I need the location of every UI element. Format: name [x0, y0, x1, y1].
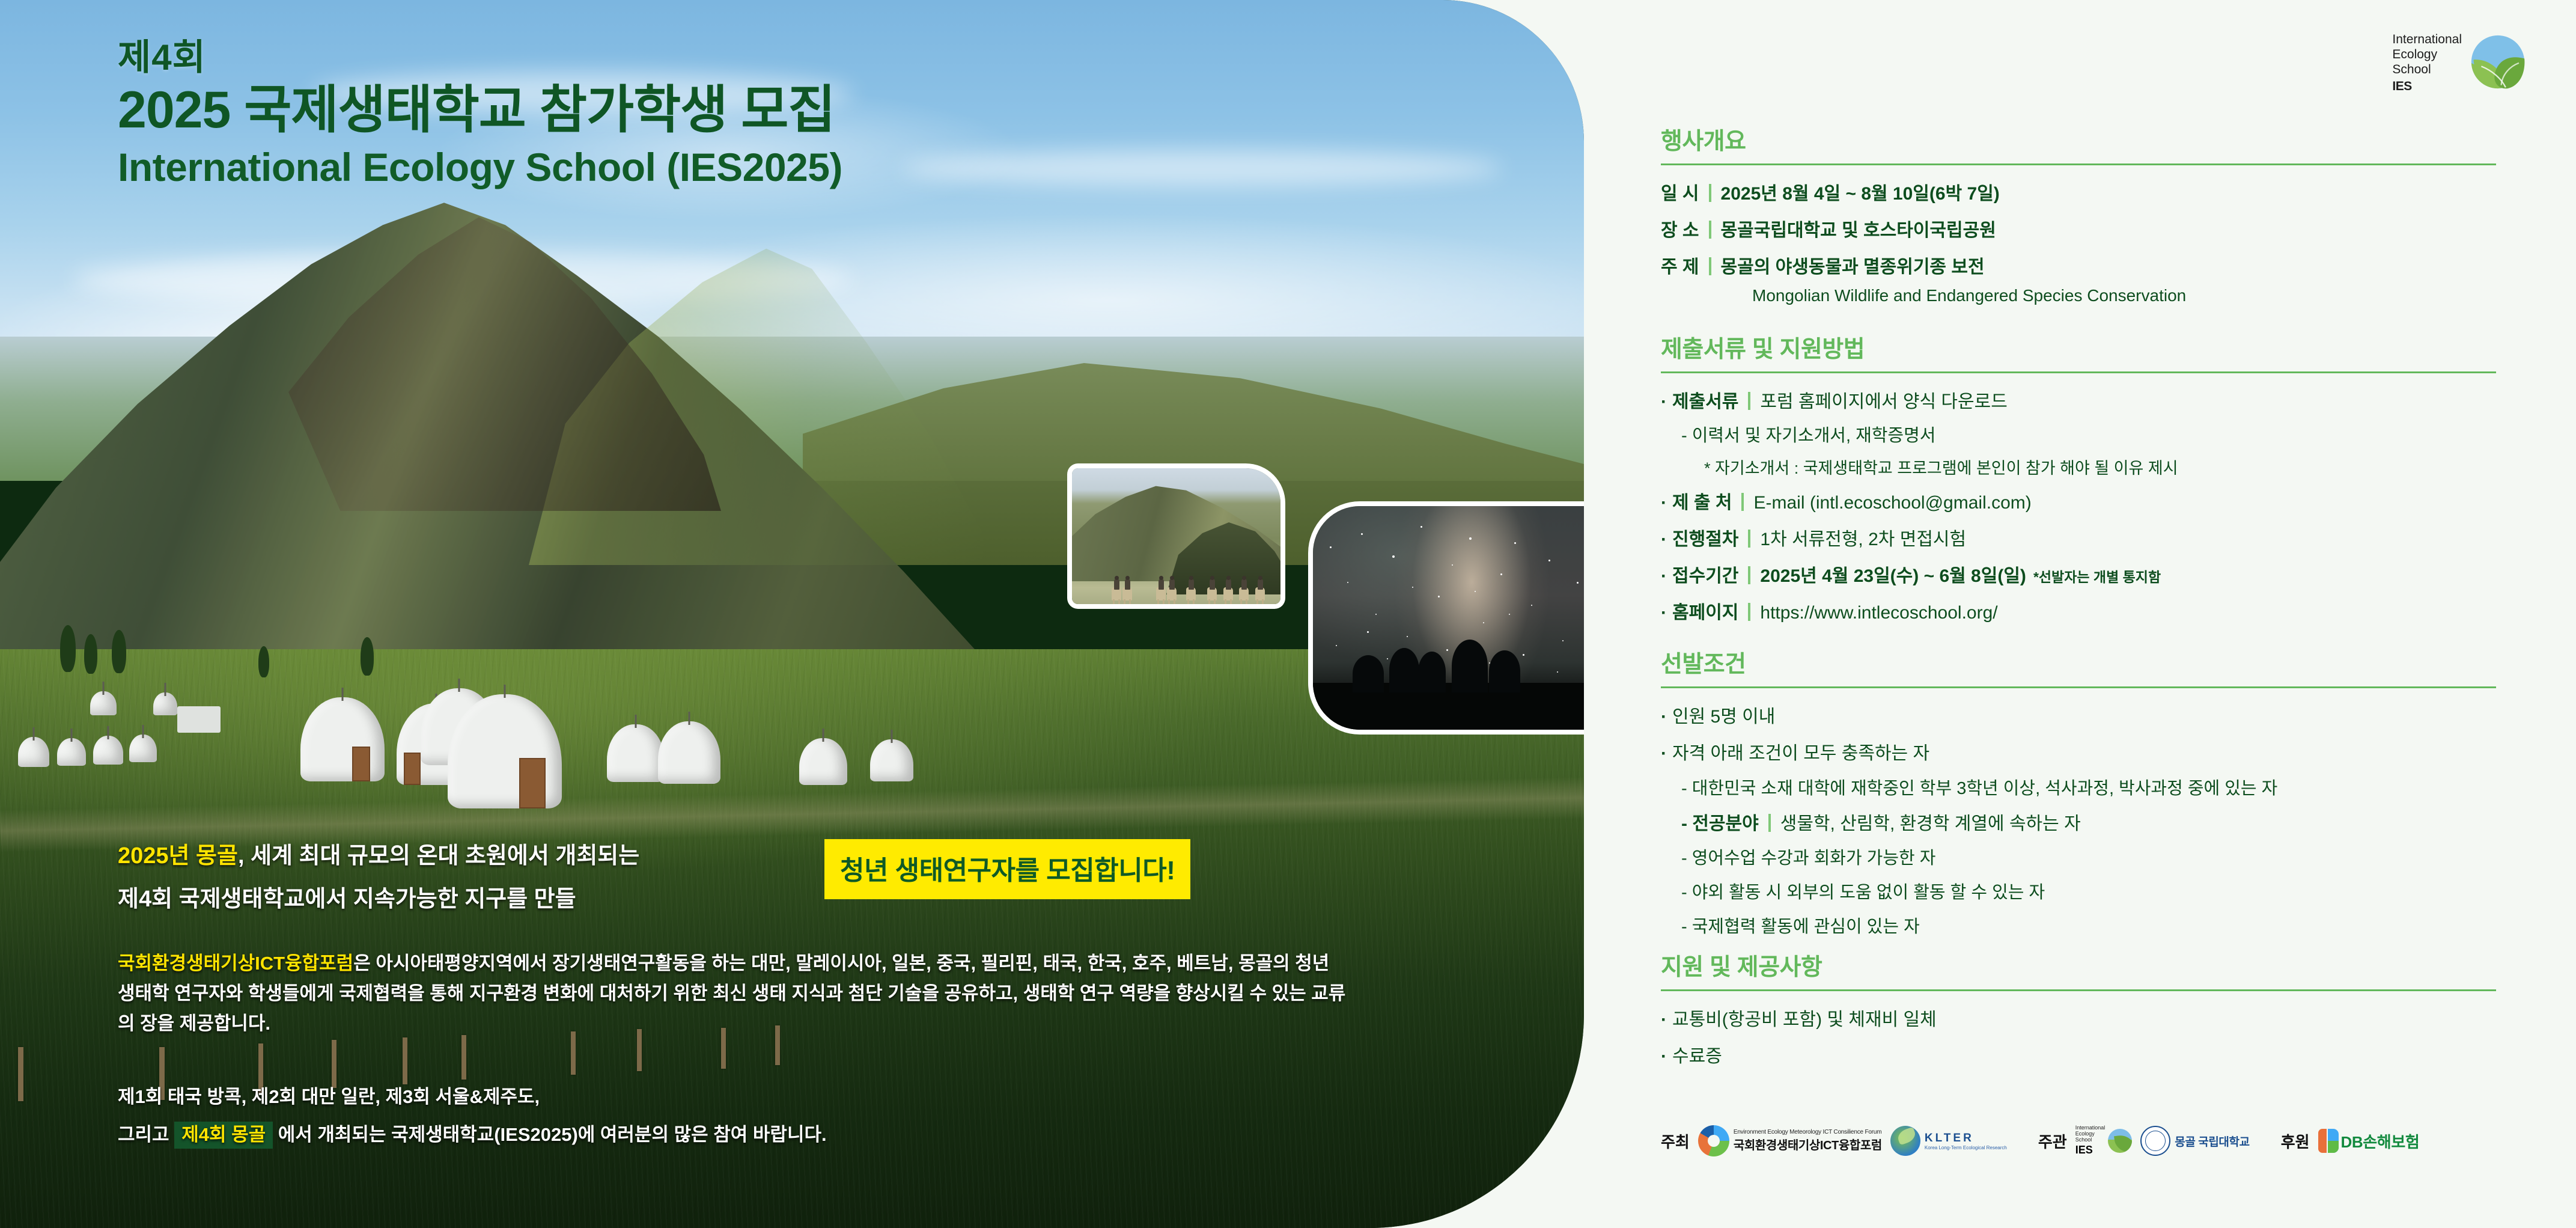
ies-logo-abbr: IES	[2392, 79, 2462, 94]
ies-logo-line2: Ecology	[2392, 47, 2462, 63]
divider-bar-icon	[1748, 566, 1750, 584]
row-label: 주 제	[1661, 254, 1699, 281]
row-value: 몽골국립대학교 및 호스타이국립공원	[1721, 218, 1996, 244]
tree	[84, 634, 97, 674]
section-apply: 제출서류 및 지원방법 · 제출서류 포럼 홈페이지에서 양식 다운로드 - 이…	[1661, 331, 2496, 636]
bullet-icon: ·	[1661, 704, 1667, 730]
klter-globe-icon	[1890, 1126, 1920, 1156]
table-row: · 제 출 처 E-mail (intl.ecoschool@gmail.com…	[1661, 490, 2496, 516]
logo-klter: KLTER Korea Long-Term Ecological Researc…	[1890, 1126, 2007, 1156]
klter-name: KLTER	[1925, 1132, 1974, 1144]
supporter-label: 후원	[2281, 1130, 2310, 1152]
section-criteria: 선발조건 · 인원 5명 이내 · 자격 아래 조건이 모두 충족하는 자 - …	[1661, 646, 2496, 948]
host-label: 주최	[1661, 1130, 1690, 1152]
ger-tent	[57, 738, 86, 766]
homepage-url[interactable]: https://www.intlecoschool.org/	[1760, 600, 1997, 626]
section-divider	[1661, 989, 2496, 991]
section-divider	[1661, 163, 2496, 165]
section-criteria-heading: 선발조건	[1661, 646, 2496, 679]
person-silhouette	[1389, 648, 1419, 692]
person-silhouette	[1418, 652, 1446, 692]
closing-chip: 제4회 몽골	[174, 1122, 273, 1149]
closing-line-1: 제1회 태국 방콕, 제2회 대만 일란, 제3회 서울&제주도,	[118, 1081, 1350, 1113]
info-panel: International Ecology School IES 행사개요 일 …	[1584, 0, 2576, 1228]
row-label: 홈페이지	[1672, 600, 1738, 626]
section-divider	[1661, 371, 2496, 373]
logo-mongolian-national-university: 몽골 국립대학교	[2140, 1126, 2249, 1156]
list-item-label: 자격 아래 조건이 모두 충족하는 자	[1672, 741, 1929, 767]
fence-post	[18, 1047, 23, 1101]
fence-post	[461, 1035, 466, 1080]
criteria-sub-item: - 대한민국 소재 대학에 재학중인 학부 3학년 이상, 석사과정, 박사과정…	[1681, 777, 2496, 801]
person-silhouette	[1353, 655, 1384, 692]
section-support-heading: 지원 및 제공사항	[1661, 948, 2496, 982]
organizer-label: 주관	[2038, 1130, 2067, 1152]
list-item: · 자격 아래 조건이 모두 충족하는 자	[1661, 741, 2496, 767]
divider-bar-icon	[1768, 814, 1771, 832]
section-support: 지원 및 제공사항 · 교통비(항공비 포함) 및 체재비 일체 · 수료증	[1661, 948, 2496, 1080]
tree	[112, 630, 126, 673]
photo-stargazing	[1313, 506, 1584, 730]
page-title-english: International Ecology School (IES2025)	[118, 144, 842, 191]
logo-db-insurance: DB손해보험	[2318, 1129, 2420, 1153]
apply-sub-note: * 자기소개서 : 국제생태학교 프로그램에 본인이 참가 해야 될 이유 제시	[1704, 457, 2496, 480]
section-overview-heading: 행사개요	[1661, 123, 2496, 156]
tree	[258, 646, 269, 677]
ger-tent	[153, 692, 177, 715]
apply-sub-item: - 이력서 및 자기소개서, 재학증명서	[1681, 424, 2496, 448]
closing-suffix: 에서 개최되는 국제생태학교(IES2025)에 여러분의 많은 참여 바랍니다…	[273, 1124, 826, 1145]
page-title: 2025 국제생태학교 참가학생 모집	[118, 81, 842, 139]
support-rows: · 교통비(항공비 포함) 및 체재비 일체 · 수료증	[1661, 1007, 2496, 1069]
table-row: · 제출서류 포럼 홈페이지에서 양식 다운로드	[1661, 389, 2496, 415]
section-divider	[1661, 686, 2496, 688]
bullet-icon: ·	[1661, 1007, 1667, 1033]
row-value: 몽골의 야생동물과 멸종위기종 보전	[1721, 254, 1985, 281]
divider-bar-icon	[1748, 603, 1750, 621]
ies-logo: International Ecology School IES	[2392, 32, 2526, 94]
person-silhouette	[1452, 640, 1488, 692]
row-value: E-mail (intl.ecoschool@gmail.com)	[1753, 490, 2031, 516]
apply-rows: · 제출서류 포럼 홈페이지에서 양식 다운로드 - 이력서 및 자기소개서, …	[1661, 389, 2496, 626]
klter-subtitle: Korea Long-Term Ecological Research	[1925, 1145, 2007, 1150]
table-row: 일 시 2025년 8월 4일 ~ 8월 10일(6박 7일)	[1661, 181, 2496, 207]
klter-logo-text: KLTER Korea Long-Term Ecological Researc…	[1925, 1132, 2007, 1150]
closing-line-2: 그리고 제4회 몽골 에서 개최되는 국제생태학교(IES2025)에 여러분의…	[118, 1119, 1350, 1150]
ies-logo-line1: International	[2392, 32, 2462, 47]
hero-photo-panel: 제4회 2025 국제생태학교 참가학생 모집 International Ec…	[0, 0, 1584, 1228]
sponsor-group-supporter: 후원 DB손해보험	[2281, 1129, 2420, 1153]
criteria-sub-item: - 국제협력 활동에 관심이 있는 자	[1681, 915, 2496, 939]
tree	[361, 637, 374, 676]
db-mark-icon	[2318, 1129, 2339, 1153]
row-label: 접수기간	[1672, 563, 1738, 590]
divider-bar-icon	[1709, 257, 1711, 275]
tagline-rest: , 세계 최대 규모의 온대 초원에서 개최되는	[238, 843, 639, 869]
table-row: · 홈페이지 https://www.intlecoschool.org/	[1661, 600, 2496, 626]
list-item: · 교통비(항공비 포함) 및 체재비 일체	[1661, 1007, 2496, 1033]
ies-small-abbr: IES	[2075, 1144, 2106, 1156]
ies-logo-text: International Ecology School IES	[2392, 32, 2462, 94]
overview-rows: 일 시 2025년 8월 4일 ~ 8월 10일(6박 7일) 장 소 몽골국립…	[1661, 181, 2496, 308]
photo-horse-riding	[1072, 468, 1280, 604]
table-row: 장 소 몽골국립대학교 및 호스타이국립공원	[1661, 218, 2496, 244]
row-label: 제 출 처	[1672, 490, 1732, 516]
poster-title-block: 제4회 2025 국제생태학교 참가학생 모집 International Ec…	[118, 38, 842, 192]
closing-paragraph: 제1회 태국 방콕, 제2회 대만 일란, 제3회 서울&제주도, 그리고 제4…	[118, 1081, 1350, 1151]
closing-prefix: 그리고	[118, 1124, 174, 1145]
list-item: · 인원 5명 이내	[1661, 704, 2496, 730]
row-value: 2025년 4월 23일(수) ~ 6월 8일(일)	[1760, 563, 2026, 590]
sponsor-group-organizer: 주관 International Ecology School IES 몽골 국…	[2038, 1125, 2250, 1156]
ies-leaf-circle-icon	[2470, 34, 2526, 93]
forum-logo-text: Environment Ecology Meteorology ICT Cons…	[1734, 1129, 1882, 1153]
divider-bar-icon	[1748, 392, 1750, 410]
tagline-highlight: 2025년 몽골	[118, 843, 238, 869]
list-item: · 수료증	[1661, 1043, 2496, 1070]
ies-small-leaf-icon	[2108, 1129, 2132, 1153]
forum-name: 국회환경생태기상ICT융합포럼	[1734, 1139, 1882, 1152]
list-item-label: 교통비(항공비 포함) 및 체재비 일체	[1672, 1007, 1937, 1033]
bullet-icon: ·	[1661, 741, 1667, 767]
row-value: 2025년 8월 4일 ~ 8월 10일(6박 7일)	[1721, 181, 2000, 207]
sponsor-group-host: 주최 Environment Ecology Meteorology ICT C…	[1661, 1125, 2007, 1156]
body-highlight: 국회환경생태기상ICT융합포럼	[118, 953, 353, 974]
row-note: *선발자는 개별 통지함	[2033, 567, 2161, 588]
forum-caption: Environment Ecology Meteorology ICT Cons…	[1734, 1129, 1882, 1135]
tagline-block: 2025년 몽골, 세계 최대 규모의 온대 초원에서 개최되는 제4회 국제생…	[118, 840, 639, 916]
edition-label: 제4회	[118, 38, 842, 76]
university-seal-icon	[2140, 1126, 2170, 1156]
criteria-sub-item: - 영어수업 수강과 회화가 가능한 자	[1681, 846, 2496, 871]
ies-small-line3: School	[2075, 1137, 2106, 1143]
forum-circle-icon	[1698, 1125, 1729, 1156]
table-row: - 전공분야 생물학, 산림학, 환경학 계열에 속하는 자	[1681, 811, 2496, 837]
row-value: 포럼 홈페이지에서 양식 다운로드	[1760, 389, 2007, 415]
divider-bar-icon	[1709, 184, 1711, 202]
criteria-sub-item: - 야외 활동 시 외부의 도움 없이 활동 할 수 있는 자	[1681, 881, 2496, 905]
row-label: 진행절차	[1672, 527, 1738, 553]
ies-logo-line3: School	[2392, 63, 2462, 78]
ger-tent	[90, 691, 117, 715]
logo-eemicf: Environment Ecology Meteorology ICT Cons…	[1698, 1125, 1882, 1156]
db-name: DB손해보험	[2341, 1130, 2420, 1152]
section-apply-heading: 제출서류 및 지원방법	[1661, 331, 2496, 364]
cloud-wisp	[901, 150, 1502, 186]
list-item-label: 수료증	[1672, 1043, 1722, 1070]
row-label: 장 소	[1661, 218, 1699, 244]
university-name: 몽골 국립대학교	[2175, 1133, 2249, 1149]
row-label: - 전공분야	[1681, 811, 1759, 837]
bullet-icon: ·	[1661, 1043, 1667, 1070]
tagline-line-1: 2025년 몽골, 세계 최대 규모의 온대 초원에서 개최되는	[118, 840, 639, 873]
divider-bar-icon	[1741, 493, 1744, 511]
logo-ies-small: International Ecology School IES	[2075, 1125, 2133, 1156]
ies-small-text: International Ecology School IES	[2075, 1125, 2106, 1156]
tree	[60, 625, 76, 672]
ger-tent	[93, 736, 123, 765]
row-value: 1차 서류전형, 2차 면접시험	[1760, 527, 1966, 553]
fence-post	[403, 1037, 407, 1084]
table-row: 주 제 몽골의 야생동물과 멸종위기종 보전	[1661, 254, 2496, 281]
ger-tent	[18, 737, 49, 767]
tagline-line-2: 제4회 국제생태학교에서 지속가능한 지구를 만들	[118, 884, 639, 916]
list-item-label: 인원 5명 이내	[1672, 704, 1775, 730]
divider-bar-icon	[1748, 530, 1750, 548]
sponsor-bar: 주최 Environment Ecology Meteorology ICT C…	[1661, 1125, 2419, 1156]
divider-bar-icon	[1709, 221, 1711, 239]
yellow-callout: 청년 생태연구자를 모집합니다!	[824, 839, 1190, 899]
table-row: · 접수기간 2025년 4월 23일(수) ~ 6월 8일(일) *선발자는 …	[1661, 563, 2496, 590]
row-label: 일 시	[1661, 181, 1699, 207]
section-overview: 행사개요 일 시 2025년 8월 4일 ~ 8월 10일(6박 7일) 장 소…	[1661, 123, 2496, 317]
body-paragraph: 국회환경생태기상ICT융합포럼은 아시아태평양지역에서 장기생태연구활동을 하는…	[118, 948, 1350, 1039]
criteria-rows: · 인원 5명 이내 · 자격 아래 조건이 모두 충족하는 자 - 대한민국 …	[1661, 704, 2496, 939]
camp-building	[177, 706, 221, 733]
person-silhouette	[1489, 650, 1520, 692]
row-label: 제출서류	[1672, 389, 1738, 415]
table-row: · 진행절차 1차 서류전형, 2차 면접시험	[1661, 527, 2496, 553]
row-value: 생물학, 산림학, 환경학 계열에 속하는 자	[1780, 811, 2081, 837]
overview-subject-english: Mongolian Wildlife and Endangered Specie…	[1752, 284, 2496, 307]
ger-tent	[129, 735, 157, 762]
